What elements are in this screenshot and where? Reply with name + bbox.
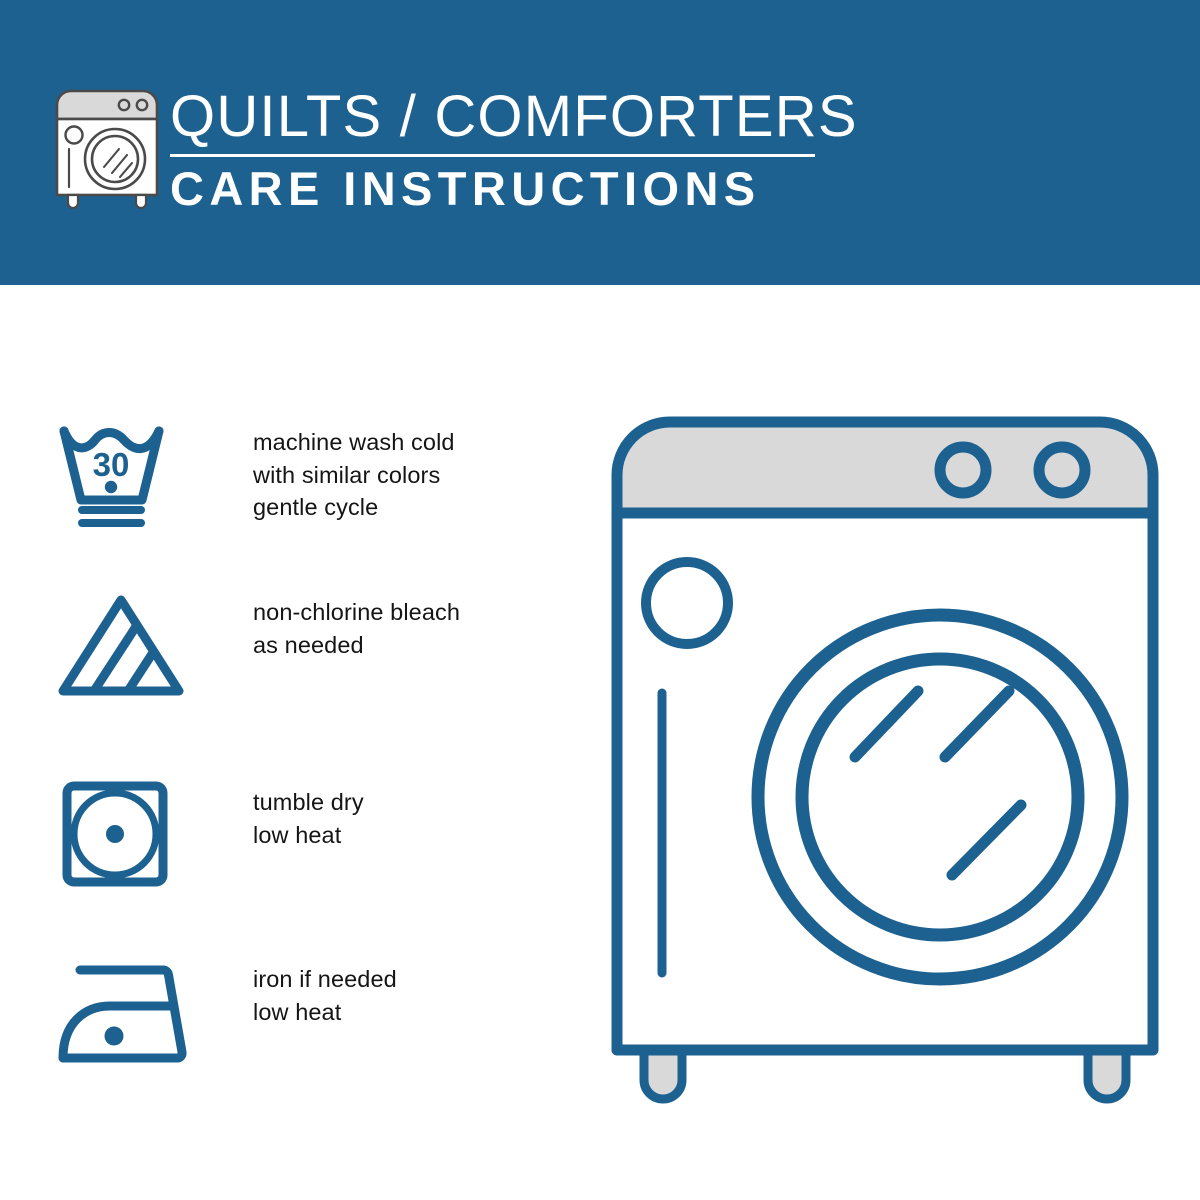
care-line: tumble dry bbox=[253, 786, 364, 819]
machine-leg-right bbox=[1088, 1050, 1126, 1099]
care-line: non-chlorine bleach bbox=[253, 596, 460, 629]
wash-temperature-label: 30 bbox=[93, 446, 130, 483]
care-line: as needed bbox=[253, 629, 460, 662]
care-item-iron-text: iron if needed low heat bbox=[253, 955, 397, 1028]
care-item-tumble-dry: tumble dry low heat bbox=[55, 778, 535, 895]
header-banner: QUILTS / COMFORTERS CARE INSTRUCTIONS bbox=[0, 0, 1200, 285]
care-line: iron if needed bbox=[253, 963, 397, 996]
care-item-bleach: non-chlorine bleach as needed bbox=[55, 588, 535, 705]
machine-control-panel bbox=[617, 422, 1153, 513]
washing-machine-icon bbox=[52, 83, 162, 209]
care-item-bleach-text: non-chlorine bleach as needed bbox=[253, 588, 460, 661]
care-item-machine-wash-text: machine wash cold with similar colors ge… bbox=[253, 418, 455, 524]
title-divider bbox=[170, 154, 815, 157]
iron-low-heat-icon bbox=[55, 955, 201, 1072]
care-item-iron: iron if needed low heat bbox=[55, 955, 535, 1072]
care-line: gentle cycle bbox=[253, 491, 455, 524]
page-title: QUILTS / COMFORTERS bbox=[170, 86, 815, 148]
care-line: with similar colors bbox=[253, 459, 455, 492]
care-line: machine wash cold bbox=[253, 426, 455, 459]
care-line: low heat bbox=[253, 819, 364, 852]
washing-machine-illustration bbox=[600, 405, 1170, 1110]
page-subtitle: CARE INSTRUCTIONS bbox=[170, 163, 815, 215]
machine-leg-left bbox=[644, 1050, 682, 1099]
header-title-group: QUILTS / COMFORTERS CARE INSTRUCTIONS bbox=[170, 86, 815, 215]
bleach-triangle-non-chlorine-icon bbox=[55, 588, 201, 705]
care-item-tumble-dry-text: tumble dry low heat bbox=[253, 778, 364, 851]
care-item-machine-wash: 30 machine wash cold with similar colors… bbox=[55, 418, 535, 535]
wash-tub-30-gentle-icon: 30 bbox=[55, 418, 201, 535]
care-line: low heat bbox=[253, 996, 397, 1029]
tumble-dry-low-heat-icon bbox=[55, 778, 201, 895]
